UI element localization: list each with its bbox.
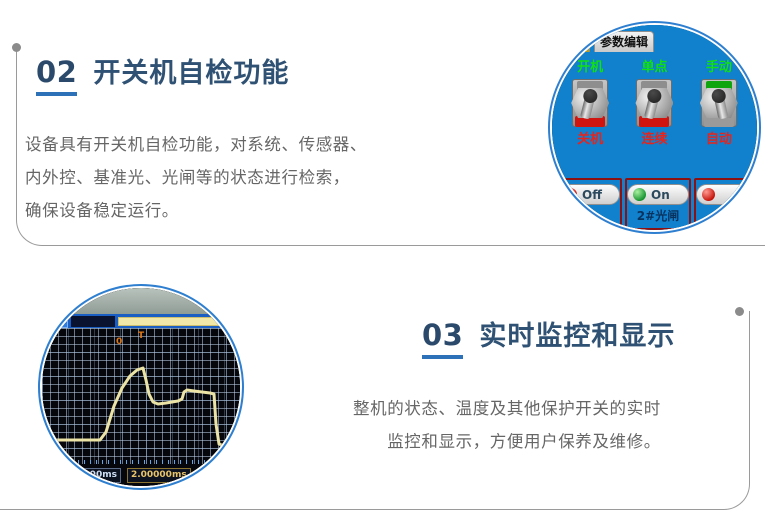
toggle-label-bottom: 自动: [687, 133, 751, 146]
section-03-body: 整机的状态、温度及其他保护开关的实时 监控和显示，方便用户保养及维修。: [353, 392, 661, 458]
timebase-readout: 2.00ms: [76, 468, 121, 483]
section-03-number: 03: [422, 321, 463, 359]
section-03-body-line: 监控和显示，方便用户保养及维修。: [353, 425, 661, 458]
control-button-pill[interactable]: [696, 184, 757, 205]
oscilloscope-bezel: [42, 288, 240, 314]
control-button-shutter-2[interactable]: On 2#光闸: [625, 178, 691, 230]
oscilloscope-menubar: [42, 314, 240, 328]
status-led-on-icon: [633, 188, 646, 201]
control-button-shutter-3[interactable]: [694, 178, 757, 230]
toggle-switch-mode[interactable]: 单点 连续: [622, 61, 686, 146]
section-03-body-line: 整机的状态、温度及其他保护开关的实时: [353, 392, 661, 425]
control-panel-photo: 参数编辑 开机 关机 单点: [552, 25, 757, 230]
waveform-svg: [42, 328, 240, 464]
delay-readout: 2.00000ms: [127, 468, 191, 483]
control-button-row: Off 闸 On 2#光闸: [552, 178, 757, 230]
toggle-switch-icon[interactable]: [698, 79, 740, 129]
oscilloscope-measure-bar: [118, 317, 234, 326]
oscilloscope-screen: 0 T 2.00ms 2.00000ms: [42, 288, 240, 486]
oscilloscope-waveform: [42, 328, 240, 464]
section-02-title: 开关机自检功能: [93, 60, 289, 87]
oscilloscope-photo: 0 T 2.00ms 2.00000ms: [42, 288, 240, 486]
control-button-pill[interactable]: On: [627, 184, 689, 205]
section-02-body: 设备具有开关机自检功能，对系统、传感器、 内外控、基准光、光闸等的状态进行检索，…: [25, 128, 367, 227]
toggle-label-bottom: 连续: [622, 133, 686, 146]
control-panel-screen: 参数编辑 开机 关机 单点: [552, 25, 757, 230]
infographic-canvas: 02 开关机自检功能 设备具有开关机自检功能，对系统、传感器、 内外控、基准光、…: [0, 0, 765, 527]
control-button-state: Off: [582, 189, 602, 201]
oscilloscope-channel-badge: [44, 315, 68, 328]
toggle-label-top: 手动: [687, 61, 751, 74]
panel-tab-dim[interactable]: [570, 31, 590, 52]
toggle-switch-power[interactable]: 开机 关机: [558, 61, 622, 146]
toggle-label-top: 开机: [558, 61, 622, 74]
section-02-heading: 02 开关机自检功能: [36, 58, 289, 96]
toggle-switch-row: 开机 关机 单点: [552, 61, 757, 146]
toggle-switch-icon[interactable]: [633, 79, 675, 129]
control-button-caption: 闸: [583, 210, 595, 222]
section-03-bracket-dot: [735, 307, 744, 316]
section-03-title: 实时监控和显示: [479, 323, 675, 350]
section-02-body-line: 设备具有开关机自检功能，对系统、传感器、: [25, 128, 367, 161]
toggle-switch-auto[interactable]: 手动 自动: [687, 61, 751, 146]
section-02-body-line: 确保设备稳定运行。: [25, 194, 367, 227]
control-button-shutter-1[interactable]: Off 闸: [556, 178, 622, 230]
panel-tab-parameter-edit[interactable]: 参数编辑: [594, 31, 654, 52]
section-03-heading: 03 实时监控和显示: [422, 321, 675, 359]
section-02-body-line: 内外控、基准光、光闸等的状态进行检索，: [25, 161, 367, 194]
section-02-bracket-dot: [12, 43, 21, 52]
toggle-switch-icon[interactable]: [569, 79, 611, 129]
control-button-caption: 2#光闸: [637, 210, 679, 222]
toggle-label-bottom: 关机: [558, 133, 622, 146]
control-panel-tabbar: 参数编辑: [552, 25, 757, 52]
status-led-off-icon: [702, 188, 715, 201]
waveform-marker-trigger: T: [138, 332, 144, 341]
oscilloscope-statusbar: 2.00ms 2.00000ms: [42, 464, 240, 486]
control-button-state: On: [651, 189, 670, 201]
waveform-marker-0: 0: [116, 338, 122, 347]
control-button-pill[interactable]: Off: [558, 184, 620, 205]
toggle-label-top: 单点: [622, 61, 686, 74]
oscilloscope-menu-slot: [71, 316, 115, 327]
section-02-number: 02: [36, 58, 77, 96]
status-led-off-icon: [564, 188, 577, 201]
